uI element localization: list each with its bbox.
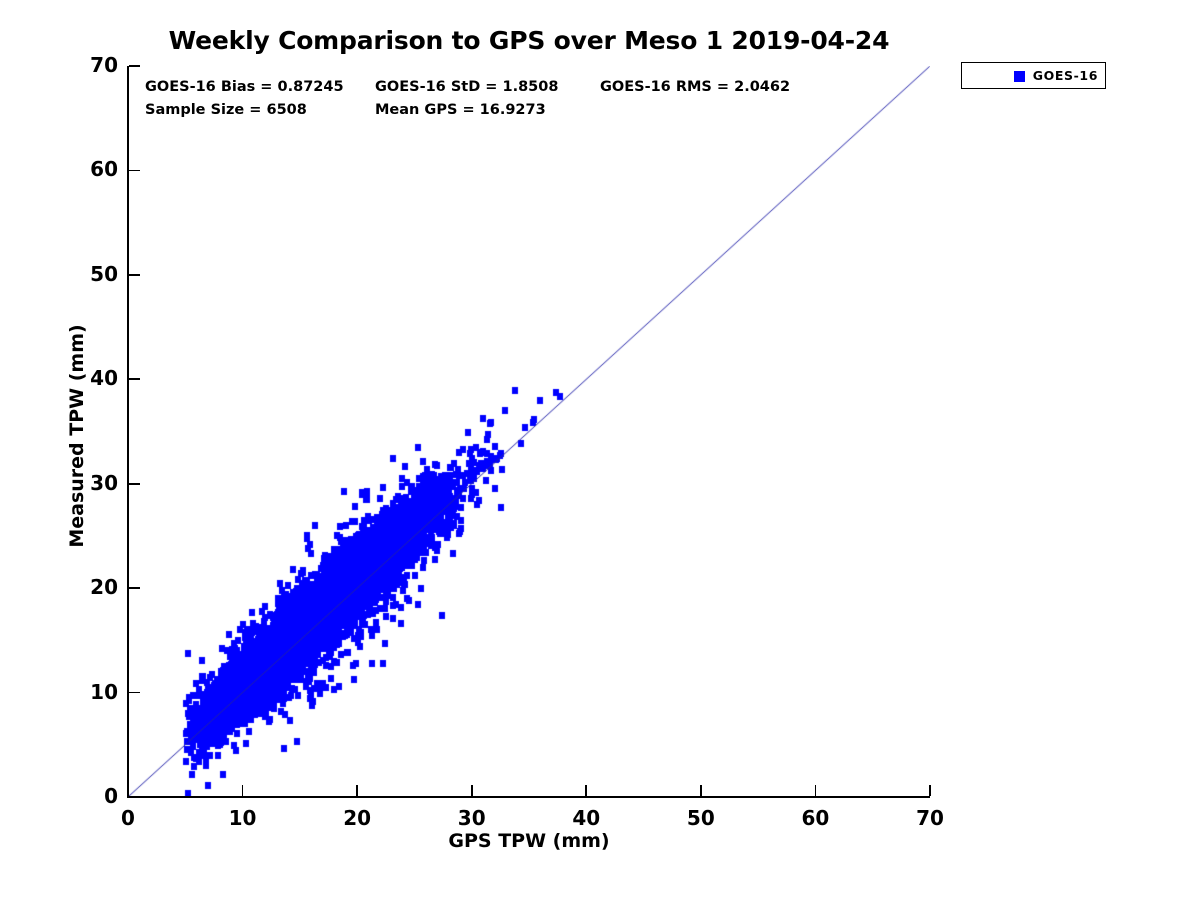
y-tick-0 [129,796,140,798]
legend-item-label: GOES-16 [1033,68,1098,83]
x-tick-60 [815,785,817,796]
x-tick-label-40: 40 [556,806,616,830]
page-title: Weekly Comparison to GPS over Meso 1 201… [128,26,930,55]
x-tick-50 [700,785,702,796]
scatter-plot-figure: Weekly Comparison to GPS over Meso 1 201… [0,0,1200,900]
stat-bias: GOES-16 Bias = 0.87245 [145,79,344,95]
legend[interactable]: GOES-16 [961,62,1106,89]
y-tick-30 [129,483,140,485]
x-tick-10 [242,785,244,796]
y-axis-label: Measured TPW (mm) [66,70,88,802]
y-tick-10 [129,692,140,694]
y-tick-20 [129,587,140,589]
y-axis-spine [127,66,129,798]
legend-marker-icon [1014,71,1025,82]
stat-mean-gps: Mean GPS = 16.9273 [375,102,546,118]
x-tick-0 [127,785,129,796]
x-tick-20 [356,785,358,796]
stat-std: GOES-16 StD = 1.8508 [375,79,558,95]
x-axis-label: GPS TPW (mm) [128,830,930,852]
x-tick-30 [471,785,473,796]
stat-sample-size: Sample Size = 6508 [145,102,307,118]
x-tick-label-50: 50 [671,806,731,830]
scatter-canvas [128,66,930,797]
x-tick-40 [585,785,587,796]
y-tick-50 [129,274,140,276]
x-tick-70 [929,785,931,796]
y-tick-40 [129,378,140,380]
x-tick-label-0: 0 [98,806,158,830]
stat-rms: GOES-16 RMS = 2.0462 [600,79,790,95]
y-tick-60 [129,170,140,172]
x-tick-label-20: 20 [327,806,387,830]
plot-area [128,66,930,797]
x-axis-spine [127,796,930,798]
x-tick-label-10: 10 [213,806,273,830]
y-tick-70 [129,65,140,67]
x-tick-label-30: 30 [442,806,502,830]
x-tick-label-70: 70 [900,806,960,830]
x-tick-label-60: 60 [785,806,845,830]
